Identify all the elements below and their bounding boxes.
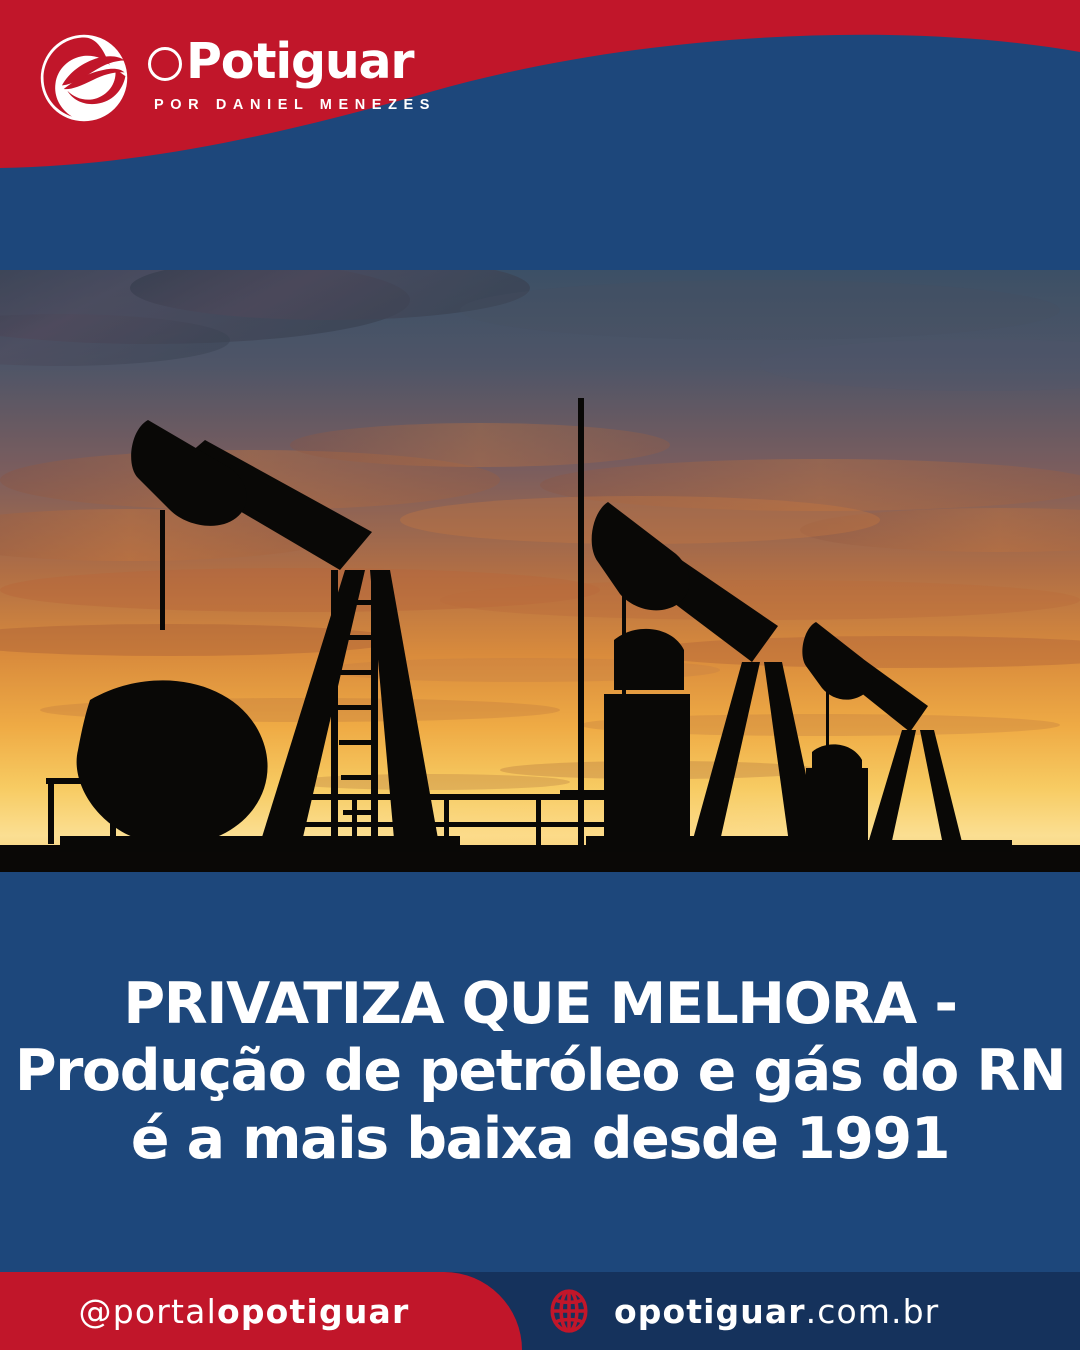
header-banner: Potiguar POR DANIEL MENEZES xyxy=(0,0,1080,272)
headline-line-2: Produção de petróleo e gás do RN xyxy=(15,1038,1065,1106)
wordmark-name: Potiguar xyxy=(186,37,413,86)
headline-line-1: PRIVATIZA QUE MELHORA - xyxy=(123,971,956,1039)
handle-prefix: @portal xyxy=(79,1292,217,1331)
headline-line-3: é a mais baixa desde 1991 xyxy=(131,1106,949,1174)
social-media-card: Potiguar POR DANIEL MENEZES xyxy=(0,0,1080,1350)
wordmark: Potiguar xyxy=(148,34,436,88)
website-url[interactable]: opotiguar.com.br xyxy=(614,1295,939,1328)
website-panel[interactable]: opotiguar.com.br xyxy=(546,1272,939,1350)
pumpjacks-sunset-illustration xyxy=(0,270,1080,872)
website-tld: .com.br xyxy=(806,1292,940,1331)
globe-icon xyxy=(546,1288,592,1334)
brand-tagline: POR DANIEL MENEZES xyxy=(154,97,436,113)
instagram-handle[interactable]: @portalopotiguar xyxy=(79,1295,410,1328)
wordmark-o-ring xyxy=(148,47,182,81)
hero-photo-pumpjacks-sunset xyxy=(0,270,1080,872)
brand-logo[interactable]: Potiguar POR DANIEL MENEZES xyxy=(38,30,436,124)
footer-bar: @portalopotiguar opotiguar.com.br xyxy=(0,1272,1080,1350)
social-handle-panel[interactable]: @portalopotiguar xyxy=(0,1272,522,1350)
o-potiguar-flame-circle-icon xyxy=(38,32,130,124)
handle-brand: opotiguar xyxy=(217,1292,410,1331)
headline-band: PRIVATIZA QUE MELHORA - Produção de petr… xyxy=(0,872,1080,1272)
website-brand: opotiguar xyxy=(614,1292,806,1331)
brand-logotype: Potiguar POR DANIEL MENEZES xyxy=(148,30,436,113)
